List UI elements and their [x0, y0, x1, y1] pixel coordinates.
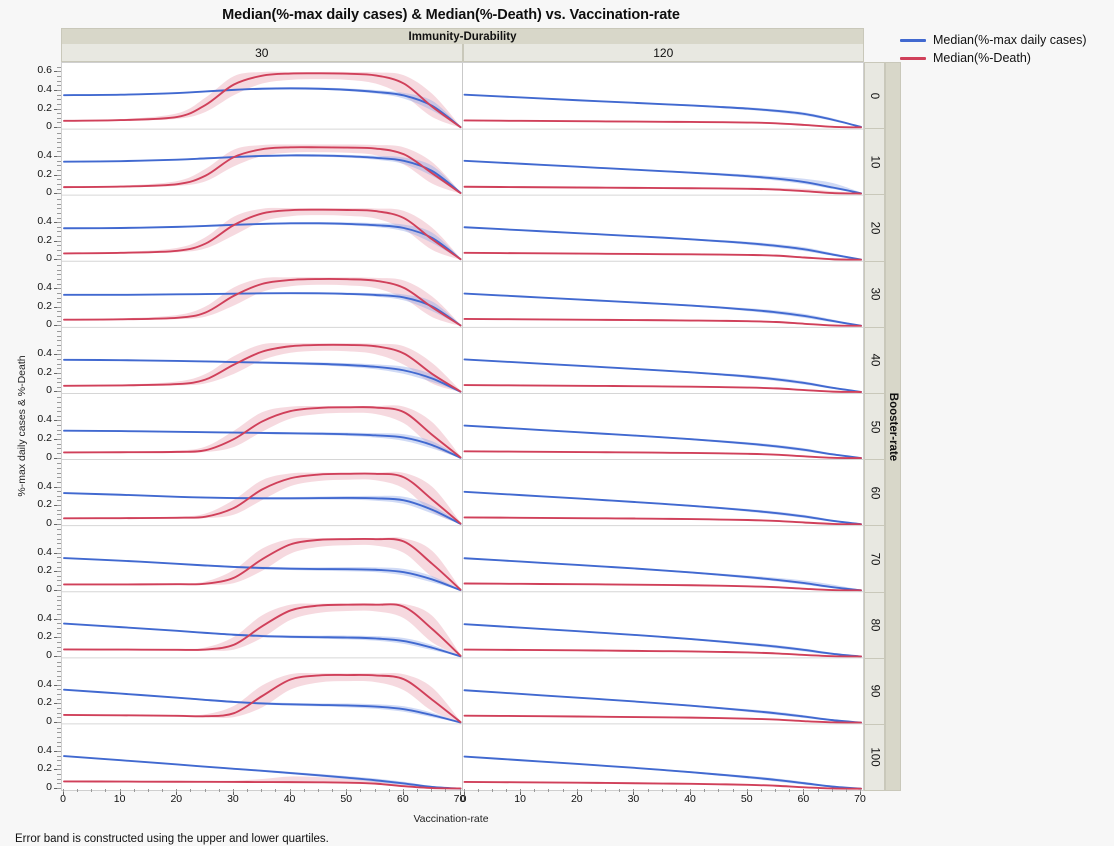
- y-tick-minor: [57, 505, 61, 506]
- x-tick-minor: [733, 789, 734, 792]
- y-tick-minor: [57, 737, 61, 738]
- series-line-death: [465, 319, 862, 326]
- x-tick-minor: [803, 789, 804, 792]
- y-tick-minor: [57, 147, 61, 148]
- page-title: Median(%-max daily cases) & Median(%-Dea…: [0, 7, 902, 23]
- facet-column-value-30: 30: [61, 44, 463, 62]
- y-tick-label: 0: [14, 781, 52, 793]
- legend-label-cases: Median(%-max daily cases): [933, 33, 1087, 47]
- y-tick-minor: [57, 85, 61, 86]
- y-tick-minor: [57, 122, 61, 123]
- y-tick-label: 0.2: [14, 696, 52, 708]
- x-tick-minor: [747, 789, 748, 792]
- y-tick-minor: [57, 364, 61, 365]
- x-tick-minor: [775, 789, 776, 792]
- y-tick-minor: [57, 81, 61, 82]
- y-tick-minor: [57, 387, 61, 388]
- y-tick-minor: [57, 633, 61, 634]
- y-tick-minor: [57, 491, 61, 492]
- series-line-death: [465, 583, 862, 590]
- facet-row-values: 0 10 20 30 40 50 60 70 80 90 100: [864, 62, 885, 791]
- y-tick-minor: [57, 222, 61, 223]
- y-tick-minor: [57, 373, 61, 374]
- y-tick-minor: [57, 444, 61, 445]
- series-line-death: [465, 385, 862, 392]
- y-tick-minor: [57, 104, 61, 105]
- y-tick-minor: [57, 783, 61, 784]
- x-tick-minor: [718, 789, 719, 792]
- y-tick-minor: [57, 279, 61, 280]
- series-line-death: [465, 253, 862, 260]
- y-tick-minor: [57, 184, 61, 185]
- x-tick-minor: [605, 789, 606, 792]
- y-tick-minor: [57, 651, 61, 652]
- y-tick-label: 0: [14, 252, 52, 264]
- y-tick-minor: [57, 391, 61, 392]
- plot-area: [61, 62, 864, 791]
- y-tick-minor: [57, 359, 61, 360]
- panel-30-70: [64, 537, 461, 590]
- y-tick-minor: [57, 557, 61, 558]
- y-tick-minor: [57, 218, 61, 219]
- y-tick-minor: [57, 302, 61, 303]
- y-tick-minor: [57, 717, 61, 718]
- x-tick-minor: [818, 789, 819, 792]
- y-tick-minor: [57, 496, 61, 497]
- y-tick-label: 0.4: [14, 83, 52, 95]
- y-tick-minor: [57, 576, 61, 577]
- facet-row-label: 0: [869, 92, 881, 98]
- y-tick-minor: [57, 259, 61, 260]
- y-tick-label: 0.4: [14, 149, 52, 161]
- y-tick-minor: [57, 539, 61, 540]
- x-tick-minor: [520, 789, 521, 792]
- y-tick-minor: [57, 609, 61, 610]
- panel-120-70: [465, 558, 862, 591]
- x-tick-minor: [846, 789, 847, 792]
- y-tick-minor: [57, 378, 61, 379]
- y-tick-minor: [57, 416, 61, 417]
- y-tick-minor: [57, 487, 61, 488]
- x-tick-minor: [563, 789, 564, 792]
- y-tick-label: 0.4: [14, 744, 52, 756]
- x-tick-minor: [431, 789, 432, 792]
- y-tick-minor: [57, 662, 61, 663]
- x-tick-minor: [690, 789, 691, 792]
- y-tick-label: 0.2: [14, 762, 52, 774]
- y-tick-minor: [57, 543, 61, 544]
- y-tick-minor: [57, 590, 61, 591]
- error-band-death: [64, 537, 461, 590]
- y-tick-minor: [57, 325, 61, 326]
- error-band-cases: [64, 430, 461, 458]
- facet-row-label: 10: [868, 155, 880, 168]
- x-tick-minor: [548, 789, 549, 792]
- chart-page: Median(%-max daily cases) & Median(%-Dea…: [0, 0, 1114, 846]
- y-tick-minor: [57, 161, 61, 162]
- facet-row-label: 60: [868, 486, 880, 499]
- y-tick-minor: [57, 666, 61, 667]
- facet-row-value-0: 0: [864, 62, 885, 128]
- y-tick-label: 0.2: [14, 168, 52, 180]
- y-tick-minor: [57, 321, 61, 322]
- y-tick-minor: [57, 407, 61, 408]
- facet-row-value-10: 10: [864, 128, 885, 194]
- facet-column-variable-header: Immunity-Durability: [61, 28, 864, 45]
- x-tick-minor: [648, 789, 649, 792]
- panel-120-30: [465, 293, 862, 326]
- series-line-cases: [64, 756, 461, 789]
- y-tick-minor: [57, 204, 61, 205]
- y-tick-minor: [57, 311, 61, 312]
- panel-30-100: [64, 756, 461, 789]
- y-tick-minor: [57, 265, 61, 266]
- y-tick-minor: [57, 600, 61, 601]
- y-tick-label: 0.6: [14, 64, 52, 76]
- y-tick-minor: [57, 605, 61, 606]
- y-tick-minor: [57, 510, 61, 511]
- y-tick-minor: [57, 453, 61, 454]
- series-line-death: [465, 187, 862, 194]
- y-tick-minor: [57, 298, 61, 299]
- y-tick-label: 0.2: [14, 630, 52, 642]
- y-tick-minor: [57, 288, 61, 289]
- y-tick-minor: [57, 751, 61, 752]
- x-tick-minor: [832, 789, 833, 792]
- x-tick-minor: [403, 789, 404, 792]
- series-line-cases: [64, 88, 461, 127]
- facet-row-variable-label: Booster-rate: [887, 392, 899, 460]
- y-tick-minor: [57, 316, 61, 317]
- x-tick-minor: [478, 789, 479, 792]
- y-tick-minor: [57, 571, 61, 572]
- y-tick-minor: [57, 71, 61, 72]
- facet-column-value-120: 120: [463, 44, 865, 62]
- y-tick-minor: [57, 331, 61, 332]
- facet-row-value-90: 90: [864, 658, 885, 724]
- y-tick-minor: [57, 676, 61, 677]
- x-tick-minor: [445, 789, 446, 792]
- error-band-cases: [64, 87, 461, 127]
- legend-item-cases[interactable]: Median(%-max daily cases): [900, 31, 1112, 49]
- y-tick-label: 0.4: [14, 678, 52, 690]
- y-tick-minor: [57, 534, 61, 535]
- panel-30-50: [64, 405, 461, 458]
- y-tick-minor: [57, 434, 61, 435]
- y-tick-minor: [57, 90, 61, 91]
- y-tick-minor: [57, 189, 61, 190]
- facet-row-label: 70: [868, 553, 880, 566]
- y-tick-minor: [57, 368, 61, 369]
- y-tick-minor: [57, 425, 61, 426]
- facet-row-value-30: 30: [864, 261, 885, 327]
- y-tick-label: 0.2: [14, 102, 52, 114]
- panel-30-30: [64, 277, 461, 326]
- y-tick-minor: [57, 703, 61, 704]
- y-tick-minor: [57, 567, 61, 568]
- y-tick-minor: [57, 236, 61, 237]
- y-tick-minor: [57, 340, 61, 341]
- y-tick-minor: [57, 199, 61, 200]
- x-axis-title: Vaccination-rate: [0, 813, 902, 825]
- facet-row-label: 40: [868, 354, 880, 367]
- y-tick-minor: [57, 769, 61, 770]
- panel-120-80: [465, 624, 862, 657]
- y-tick-minor: [57, 76, 61, 77]
- y-tick-minor: [57, 519, 61, 520]
- y-tick-label: 0.2: [14, 300, 52, 312]
- x-tick-minor: [577, 789, 578, 792]
- y-tick-minor: [57, 99, 61, 100]
- facet-row-value-40: 40: [864, 327, 885, 393]
- y-tick-label: 0.2: [14, 564, 52, 576]
- x-tick-minor: [346, 789, 347, 792]
- x-tick-minor: [318, 789, 319, 792]
- facet-row-label: 50: [868, 420, 880, 433]
- series-line-death: [465, 517, 862, 524]
- y-axis-title: %-max daily cases & %-Death: [16, 316, 28, 536]
- y-tick-minor: [57, 118, 61, 119]
- y-tick-minor: [57, 142, 61, 143]
- facet-row-value-100: 100: [864, 724, 885, 791]
- y-tick-label: 0: [14, 649, 52, 661]
- y-tick-minor: [57, 193, 61, 194]
- y-tick-label: 0: [14, 186, 52, 198]
- panel-120-40: [465, 359, 862, 392]
- y-tick-minor: [57, 628, 61, 629]
- legend: Median(%-max daily cases) Median(%-Death…: [900, 31, 1112, 67]
- y-tick-minor: [57, 765, 61, 766]
- panel-120-0: [465, 94, 862, 127]
- y-tick-minor: [57, 463, 61, 464]
- y-tick-label: 0.4: [14, 612, 52, 624]
- y-tick-label: 0.4: [14, 215, 52, 227]
- y-tick-minor: [57, 694, 61, 695]
- y-tick-minor: [57, 756, 61, 757]
- legend-label-death: Median(%-Death): [933, 51, 1031, 65]
- y-tick-label: 0.4: [14, 281, 52, 293]
- y-tick-minor: [57, 468, 61, 469]
- x-tick-minor: [591, 789, 592, 792]
- y-tick-minor: [57, 458, 61, 459]
- y-tick-minor: [57, 746, 61, 747]
- y-tick-minor: [57, 788, 61, 789]
- footnote: Error band is constructed using the uppe…: [15, 833, 329, 845]
- y-tick-minor: [57, 689, 61, 690]
- y-tick-minor: [57, 138, 61, 139]
- y-tick-minor: [57, 656, 61, 657]
- x-tick-minor: [105, 789, 106, 792]
- y-tick-minor: [57, 241, 61, 242]
- y-tick-minor: [57, 430, 61, 431]
- y-tick-minor: [57, 95, 61, 96]
- series-line-cases: [64, 360, 461, 392]
- facet-row-value-80: 80: [864, 592, 885, 658]
- panel-120-100: [465, 756, 862, 789]
- y-tick-minor: [57, 680, 61, 681]
- x-tick-minor: [789, 789, 790, 792]
- x-tick-minor: [219, 789, 220, 792]
- y-tick-minor: [57, 67, 61, 68]
- panel-30-10: [64, 144, 461, 193]
- panel-30-40: [64, 343, 461, 392]
- y-tick-minor: [57, 722, 61, 723]
- panel-30-0: [64, 72, 461, 128]
- y-tick-minor: [57, 685, 61, 686]
- y-tick-minor: [57, 156, 61, 157]
- y-tick-minor: [57, 742, 61, 743]
- x-tick-minor: [134, 789, 135, 792]
- y-tick-minor: [57, 350, 61, 351]
- facet-grid-svg: [62, 63, 863, 790]
- x-tick-minor: [247, 789, 248, 792]
- x-tick-minor: [261, 789, 262, 792]
- facet-row-label: 100: [869, 748, 881, 767]
- y-tick-minor: [57, 728, 61, 729]
- y-tick-minor: [57, 439, 61, 440]
- x-tick-minor: [190, 789, 191, 792]
- y-tick-minor: [57, 274, 61, 275]
- x-tick-minor: [633, 789, 634, 792]
- x-tick-minor: [332, 789, 333, 792]
- y-tick-minor: [57, 213, 61, 214]
- y-tick-label: 0: [14, 715, 52, 727]
- x-tick-minor: [120, 789, 121, 792]
- facet-row-value-60: 60: [864, 459, 885, 525]
- y-tick-minor: [57, 699, 61, 700]
- facet-row-label: 20: [868, 222, 880, 235]
- y-tick-minor: [57, 562, 61, 563]
- y-tick-minor: [57, 647, 61, 648]
- y-tick-minor: [57, 227, 61, 228]
- x-tick-minor: [63, 789, 64, 792]
- y-tick-minor: [57, 553, 61, 554]
- y-tick-minor: [57, 250, 61, 251]
- x-tick-minor: [506, 789, 507, 792]
- x-tick-minor: [275, 789, 276, 792]
- y-tick-minor: [57, 293, 61, 294]
- y-tick-minor: [57, 255, 61, 256]
- y-tick-minor: [57, 245, 61, 246]
- y-tick-minor: [57, 619, 61, 620]
- y-tick-minor: [57, 596, 61, 597]
- y-tick-minor: [57, 713, 61, 714]
- y-tick-minor: [57, 420, 61, 421]
- y-tick-minor: [57, 514, 61, 515]
- y-tick-minor: [57, 133, 61, 134]
- x-tick-minor: [375, 789, 376, 792]
- y-tick-minor: [57, 524, 61, 525]
- y-tick-minor: [57, 642, 61, 643]
- y-tick-minor: [57, 284, 61, 285]
- y-tick-minor: [57, 307, 61, 308]
- x-tick-minor: [761, 789, 762, 792]
- x-tick-minor: [148, 789, 149, 792]
- panel-120-60: [465, 492, 862, 525]
- error-band-death: [64, 603, 461, 656]
- facet-column-values: 30 120: [61, 44, 864, 62]
- x-tick-minor: [304, 789, 305, 792]
- x-tick-minor: [492, 789, 493, 792]
- y-tick-label: 0.4: [14, 546, 52, 558]
- panel-30-60: [64, 472, 461, 524]
- y-tick-minor: [57, 482, 61, 483]
- y-tick-minor: [57, 671, 61, 672]
- x-tick-minor: [619, 789, 620, 792]
- y-tick-minor: [57, 127, 61, 128]
- x-tick-minor: [460, 789, 461, 792]
- y-tick-minor: [57, 397, 61, 398]
- x-tick-minor: [676, 789, 677, 792]
- x-tick-minor: [662, 789, 663, 792]
- y-tick-minor: [57, 165, 61, 166]
- y-tick-minor: [57, 231, 61, 232]
- y-tick-minor: [57, 637, 61, 638]
- x-tick-minor: [534, 789, 535, 792]
- panel-30-90: [64, 673, 461, 723]
- y-tick-minor: [57, 548, 61, 549]
- y-tick-minor: [57, 623, 61, 624]
- y-tick-minor: [57, 708, 61, 709]
- y-tick-minor: [57, 779, 61, 780]
- y-tick-minor: [57, 477, 61, 478]
- x-tick-minor: [233, 789, 234, 792]
- y-tick-minor: [57, 175, 61, 176]
- panel-120-10: [465, 161, 862, 194]
- y-tick-minor: [57, 336, 61, 337]
- y-tick-label: 0: [14, 120, 52, 132]
- facet-row-label: 30: [868, 288, 880, 301]
- y-tick-minor: [57, 179, 61, 180]
- facet-row-label: 90: [868, 685, 880, 698]
- series-line-death: [465, 451, 862, 458]
- facet-row-value-70: 70: [864, 525, 885, 591]
- x-tick-minor: [176, 789, 177, 792]
- y-tick-minor: [57, 113, 61, 114]
- y-tick-minor: [57, 760, 61, 761]
- legend-swatch-death: [900, 57, 926, 60]
- y-tick-label: 0.2: [14, 234, 52, 246]
- panel-120-50: [465, 425, 862, 458]
- panel-120-90: [465, 690, 862, 723]
- x-tick-minor: [417, 789, 418, 792]
- x-tick-minor: [290, 789, 291, 792]
- panel-30-80: [64, 603, 461, 657]
- y-tick-minor: [57, 345, 61, 346]
- error-band-cases: [64, 359, 461, 392]
- y-tick-minor: [57, 270, 61, 271]
- y-tick-minor: [57, 448, 61, 449]
- y-tick-minor: [57, 170, 61, 171]
- panel-30-20: [64, 208, 461, 260]
- facet-row-value-20: 20: [864, 194, 885, 260]
- y-tick-minor: [57, 500, 61, 501]
- x-tick-minor: [77, 789, 78, 792]
- x-tick-minor: [91, 789, 92, 792]
- y-tick-minor: [57, 109, 61, 110]
- x-tick-minor: [389, 789, 390, 792]
- x-tick-minor: [162, 789, 163, 792]
- panel-120-20: [465, 227, 862, 260]
- y-tick-minor: [57, 151, 61, 152]
- facet-row-variable-header: Booster-rate: [885, 62, 901, 791]
- x-tick-minor: [464, 789, 465, 792]
- y-tick-minor: [57, 732, 61, 733]
- y-tick-minor: [57, 402, 61, 403]
- legend-item-death[interactable]: Median(%-Death): [900, 49, 1112, 67]
- facet-row-value-50: 50: [864, 393, 885, 459]
- legend-swatch-cases: [900, 39, 926, 42]
